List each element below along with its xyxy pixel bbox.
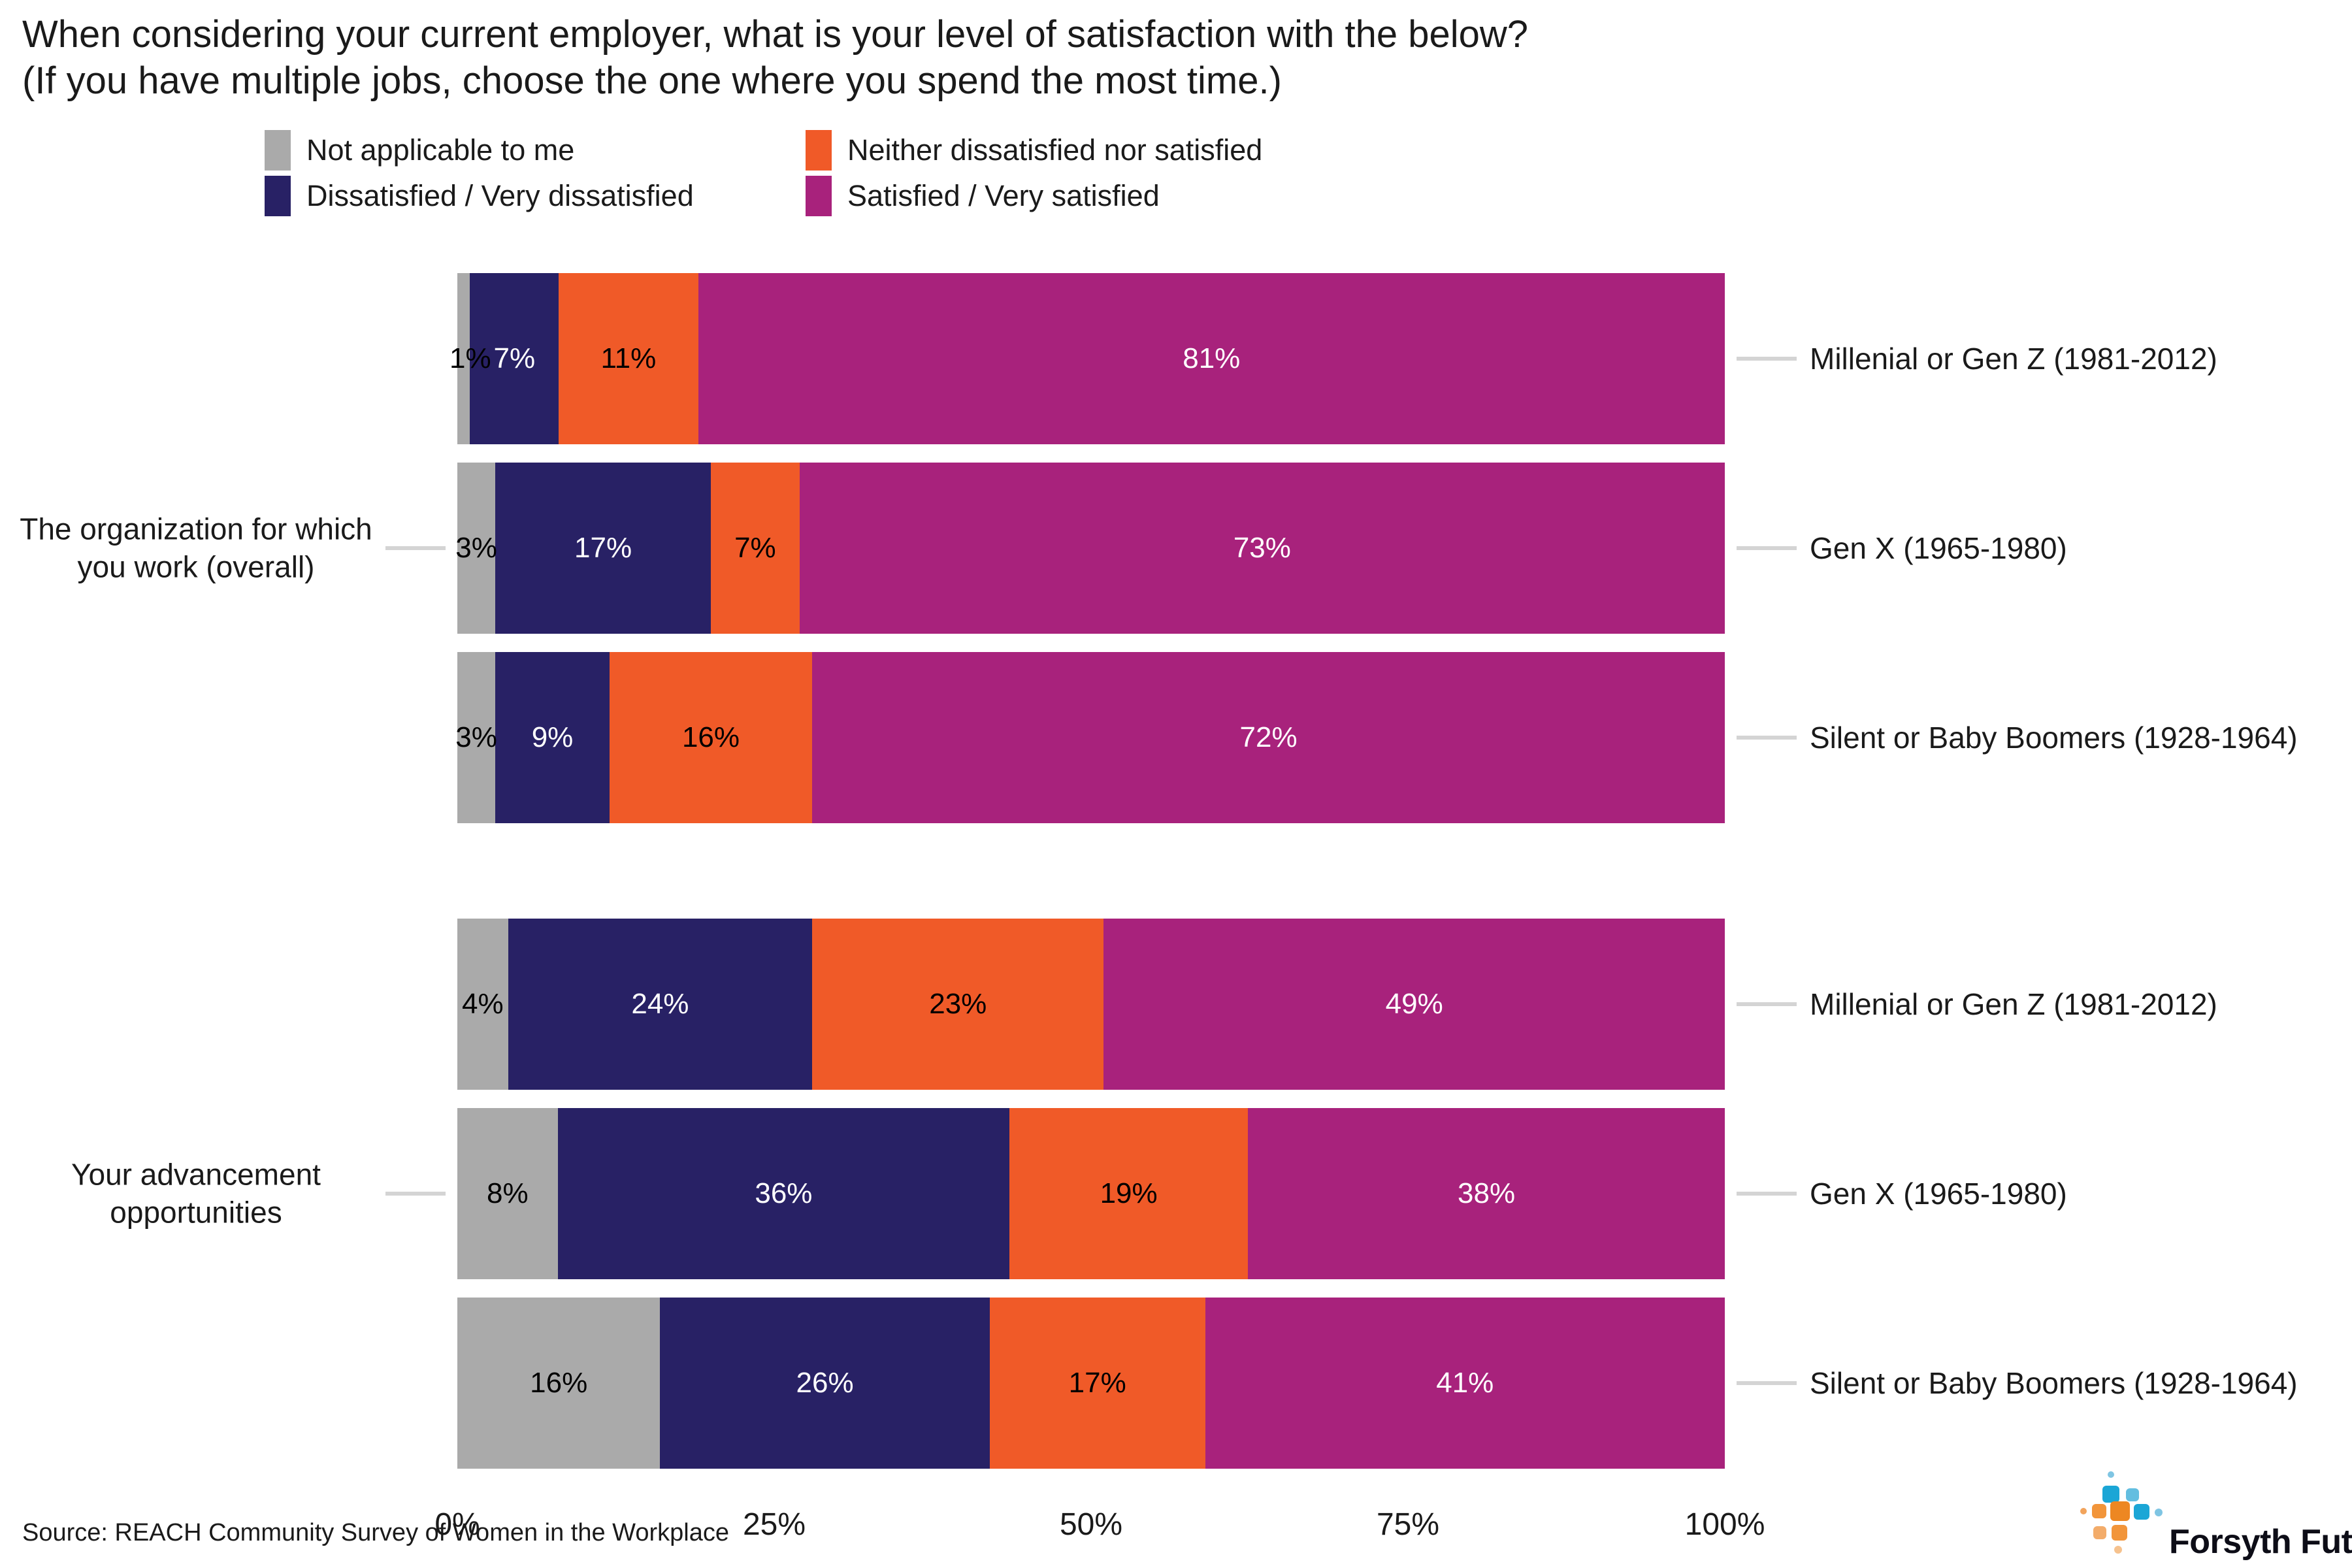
stacked-bar: 4%24%23%49%	[457, 919, 1725, 1090]
bar-segment-label: 11%	[600, 344, 656, 373]
bar-segment[interactable]: 9%	[495, 652, 610, 823]
bar-segment[interactable]: 1%	[457, 273, 470, 444]
bar-segment[interactable]: 16%	[457, 1298, 660, 1469]
bar-segment-label: 8%	[487, 1179, 529, 1208]
stacked-bar: 3%9%16%72%	[457, 652, 1725, 823]
bar-segment-label: 26%	[796, 1369, 854, 1397]
bar-segment-label: 73%	[1233, 534, 1291, 563]
category-label: Millenial or Gen Z (1981-2012)	[1810, 987, 2217, 1022]
category-label: Gen X (1965-1980)	[1810, 1176, 2067, 1211]
group-connector-line	[385, 546, 446, 550]
bar-segment-label: 49%	[1386, 990, 1443, 1019]
bar-segment-label: 36%	[755, 1179, 812, 1208]
bar-segment[interactable]: 38%	[1248, 1108, 1725, 1279]
label-connector-line	[1737, 1381, 1797, 1385]
stacked-bar: 8%36%19%38%	[457, 1108, 1725, 1279]
bar-segment[interactable]: 23%	[812, 919, 1103, 1090]
bar-segment[interactable]: 7%	[711, 463, 800, 634]
bar-segment[interactable]: 81%	[698, 273, 1725, 444]
bar-segment-label: 7%	[493, 344, 535, 373]
x-axis-tick-label: 25%	[743, 1507, 806, 1543]
bar-segment-label: 72%	[1240, 723, 1298, 752]
bar-segment-label: 1%	[449, 344, 491, 373]
logo-wordmark: Forsyth Futures	[2169, 1522, 2352, 1561]
group-connector-line	[385, 1192, 446, 1196]
bar-segment-label: 7%	[734, 534, 776, 563]
bar-segment-label: 38%	[1458, 1179, 1515, 1208]
bar-segment[interactable]: 4%	[457, 919, 508, 1090]
bar-segment[interactable]: 11%	[559, 273, 698, 444]
category-label: Silent or Baby Boomers (1928-1964)	[1810, 720, 2298, 755]
bar-segment-label: 81%	[1183, 344, 1240, 373]
stacked-bar: 16%26%17%41%	[457, 1298, 1725, 1469]
bar-segment-label: 41%	[1436, 1369, 1494, 1397]
bar-segment[interactable]: 17%	[990, 1298, 1205, 1469]
source-note: Source: REACH Community Survey of Women …	[22, 1519, 729, 1547]
bar-segment-label: 4%	[462, 990, 504, 1019]
bar-segment-label: 23%	[929, 990, 987, 1019]
bar-segment[interactable]: 24%	[508, 919, 813, 1090]
group-label: The organization for whichyou work (over…	[0, 511, 392, 586]
bar-segment[interactable]: 16%	[610, 652, 812, 823]
bar-segment-label: 16%	[530, 1369, 587, 1397]
forsyth-futures-logo: Forsyth Futures	[2078, 1471, 2352, 1568]
stacked-bar: 1%7%11%81%	[457, 273, 1725, 444]
group-label-line-1: The organization for which	[0, 511, 392, 549]
category-label: Gen X (1965-1980)	[1810, 531, 2067, 566]
bar-segment[interactable]: 3%	[457, 652, 495, 823]
group-label: Your advancementopportunities	[0, 1156, 392, 1232]
bar-segment[interactable]: 17%	[495, 463, 711, 634]
bar-segment[interactable]: 73%	[800, 463, 1725, 634]
bar-segment[interactable]: 49%	[1103, 919, 1725, 1090]
logo-mark-icon	[2080, 1471, 2164, 1550]
bar-segment-label: 24%	[631, 990, 689, 1019]
bar-segment-label: 9%	[532, 723, 574, 752]
bar-segment[interactable]: 41%	[1205, 1298, 1725, 1469]
x-axis-tick-label: 100%	[1685, 1507, 1765, 1543]
bar-segment[interactable]: 8%	[457, 1108, 558, 1279]
bar-segment-label: 19%	[1100, 1179, 1158, 1208]
bar-segment[interactable]: 72%	[812, 652, 1725, 823]
group-label-line-1: Your advancement	[0, 1156, 392, 1194]
label-connector-line	[1737, 736, 1797, 740]
label-connector-line	[1737, 1002, 1797, 1006]
label-connector-line	[1737, 1192, 1797, 1196]
label-connector-line	[1737, 357, 1797, 361]
x-axis-tick-label: 75%	[1377, 1507, 1439, 1543]
bar-segment[interactable]: 19%	[1009, 1108, 1248, 1279]
bar-segment-label: 17%	[1069, 1369, 1126, 1397]
plot-area: 1%7%11%81%Millenial or Gen Z (1981-2012)…	[0, 0, 2352, 1568]
group-label-line-2: you work (overall)	[0, 548, 392, 586]
chart-page: When considering your current employer, …	[0, 0, 2352, 1568]
group-label-line-2: opportunities	[0, 1194, 392, 1232]
bar-segment-label: 3%	[455, 723, 497, 752]
bar-segment-label: 3%	[455, 534, 497, 563]
bar-segment-label: 17%	[574, 534, 632, 563]
bar-segment-label: 16%	[682, 723, 740, 752]
bar-segment[interactable]: 36%	[558, 1108, 1009, 1279]
bar-segment[interactable]: 3%	[457, 463, 495, 634]
stacked-bar: 3%17%7%73%	[457, 463, 1725, 634]
label-connector-line	[1737, 546, 1797, 550]
category-label: Silent or Baby Boomers (1928-1964)	[1810, 1365, 2298, 1401]
category-label: Millenial or Gen Z (1981-2012)	[1810, 341, 2217, 376]
x-axis-tick-label: 50%	[1060, 1507, 1122, 1543]
bar-segment[interactable]: 26%	[660, 1298, 989, 1469]
